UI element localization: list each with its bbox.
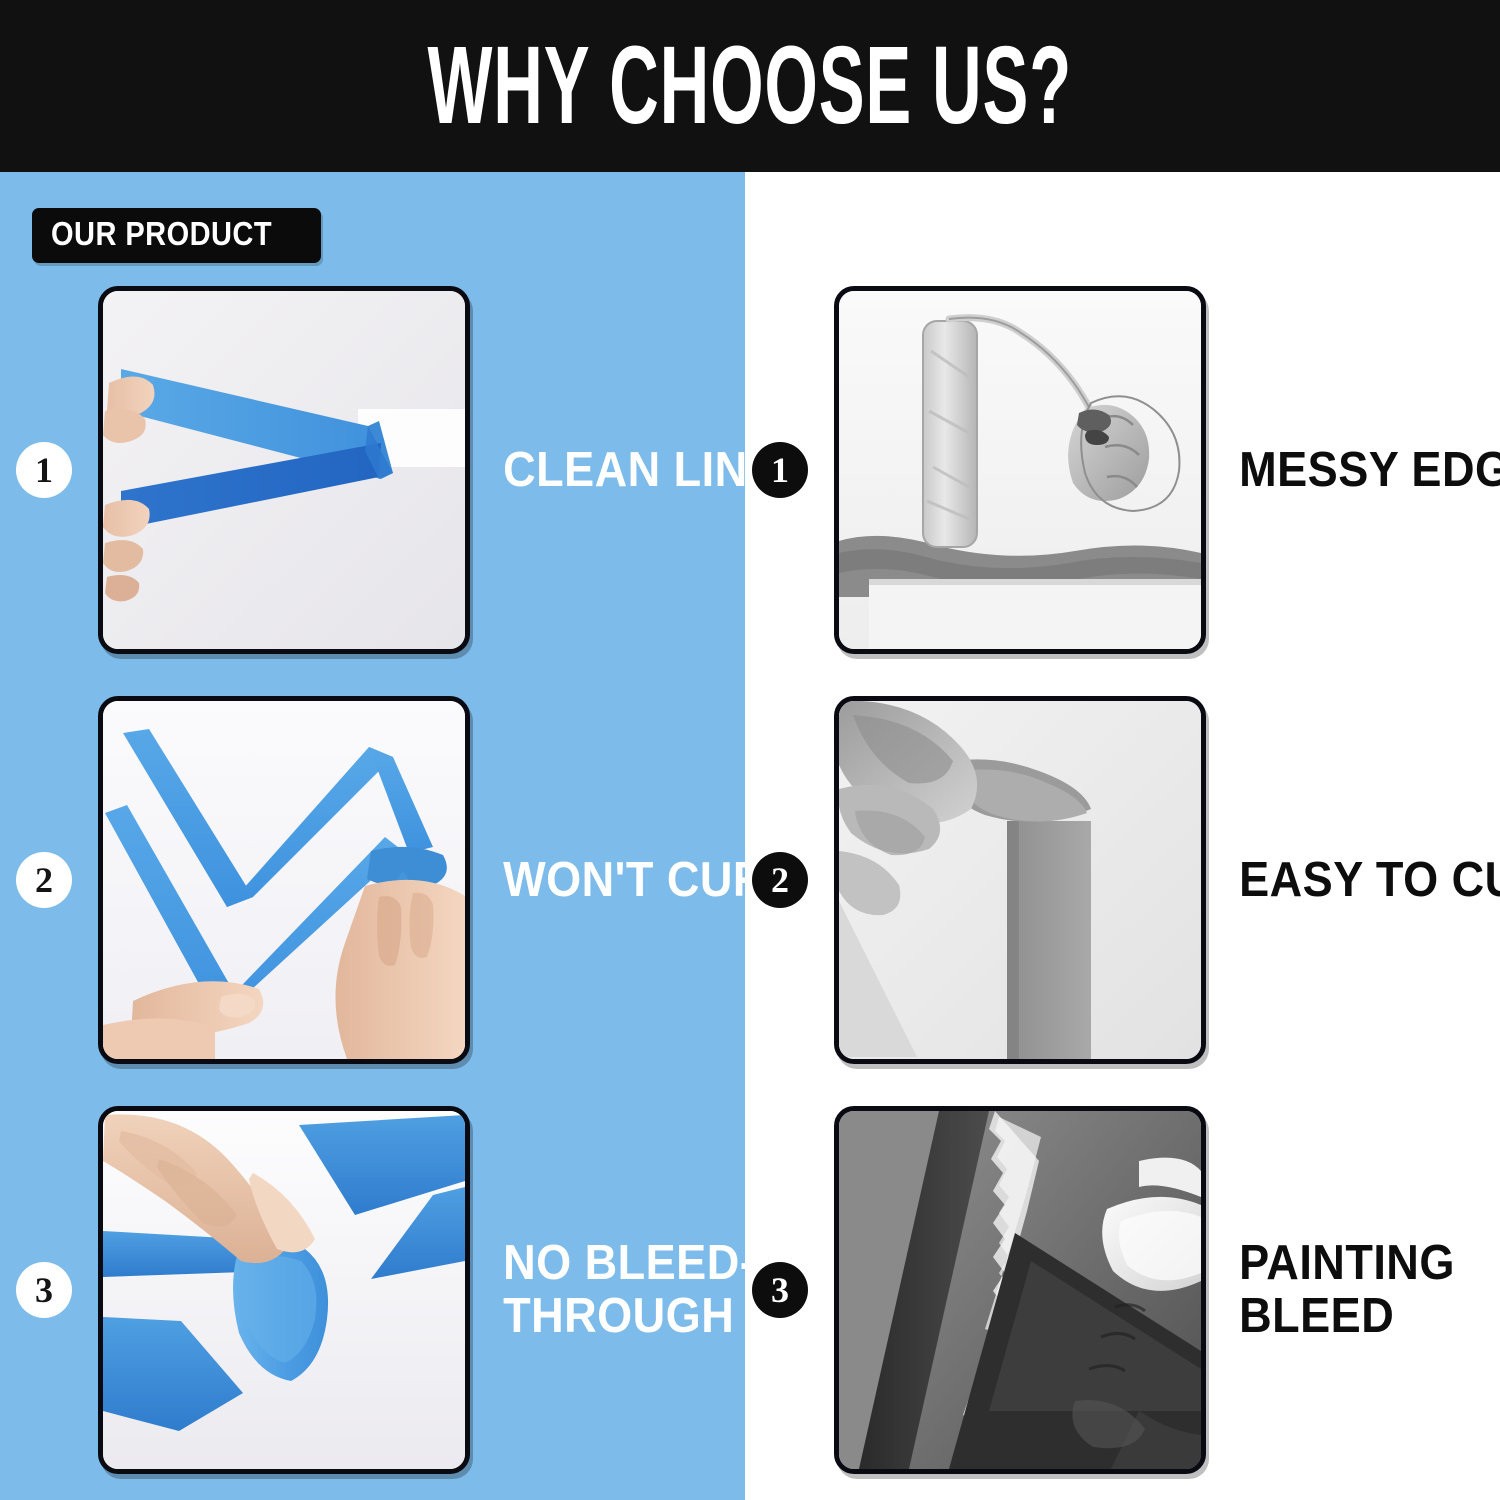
caption-line: THROUGH — [503, 1290, 755, 1343]
list-item: 1 — [752, 280, 1492, 660]
step-number-badge: 2 — [752, 852, 808, 908]
our-product-badge-label: OUR PRODUCT — [51, 217, 272, 252]
list-item: 2 — [752, 690, 1492, 1070]
list-item: 3 — [752, 1100, 1492, 1480]
step-number-badge: 1 — [752, 442, 808, 498]
problem-caption: EASY TO CURL — [1206, 854, 1500, 907]
caption-line: PAINTING — [1239, 1237, 1469, 1290]
feature-caption: NO BLEED- THROUGH — [470, 1237, 755, 1343]
list-item: 3 — [16, 1100, 744, 1480]
list-item: 2 — [16, 690, 744, 1070]
caption-line: NO BLEED- — [503, 1237, 755, 1290]
comparison-infographic: WHY CHOOSE US? OUR PRODUCT 1 — [0, 0, 1500, 1500]
our-product-badge: OUR PRODUCT — [32, 208, 321, 263]
problem-caption: MESSY EDGE — [1206, 444, 1500, 497]
blue-tape-v-fold-photo — [98, 286, 470, 654]
step-number-badge: 1 — [16, 442, 72, 498]
page-title: WHY CHOOSE US? — [428, 31, 1072, 141]
step-number-badge: 3 — [16, 1262, 72, 1318]
step-number-badge: 3 — [752, 1262, 808, 1318]
caption-line: EASY TO CURL — [1239, 854, 1500, 907]
jagged-paint-bleed-photo — [834, 1106, 1206, 1474]
header-banner: WHY CHOOSE US? — [0, 0, 1500, 172]
blue-tape-peel-photo — [98, 1106, 470, 1474]
blue-tape-zigzag-hands-photo — [98, 696, 470, 1064]
list-item: 1 — [16, 280, 744, 660]
caption-line: MESSY EDGE — [1239, 444, 1500, 497]
problem-caption: PAINTING BLEED — [1206, 1237, 1469, 1343]
feature-caption: WON'T CURL — [470, 854, 794, 907]
paint-roller-messy-edge-photo — [834, 286, 1206, 654]
caption-line: WON'T CURL — [503, 854, 794, 907]
caption-line: BLEED — [1239, 1290, 1469, 1343]
gray-tape-curling-photo — [834, 696, 1206, 1064]
step-number-badge: 2 — [16, 852, 72, 908]
